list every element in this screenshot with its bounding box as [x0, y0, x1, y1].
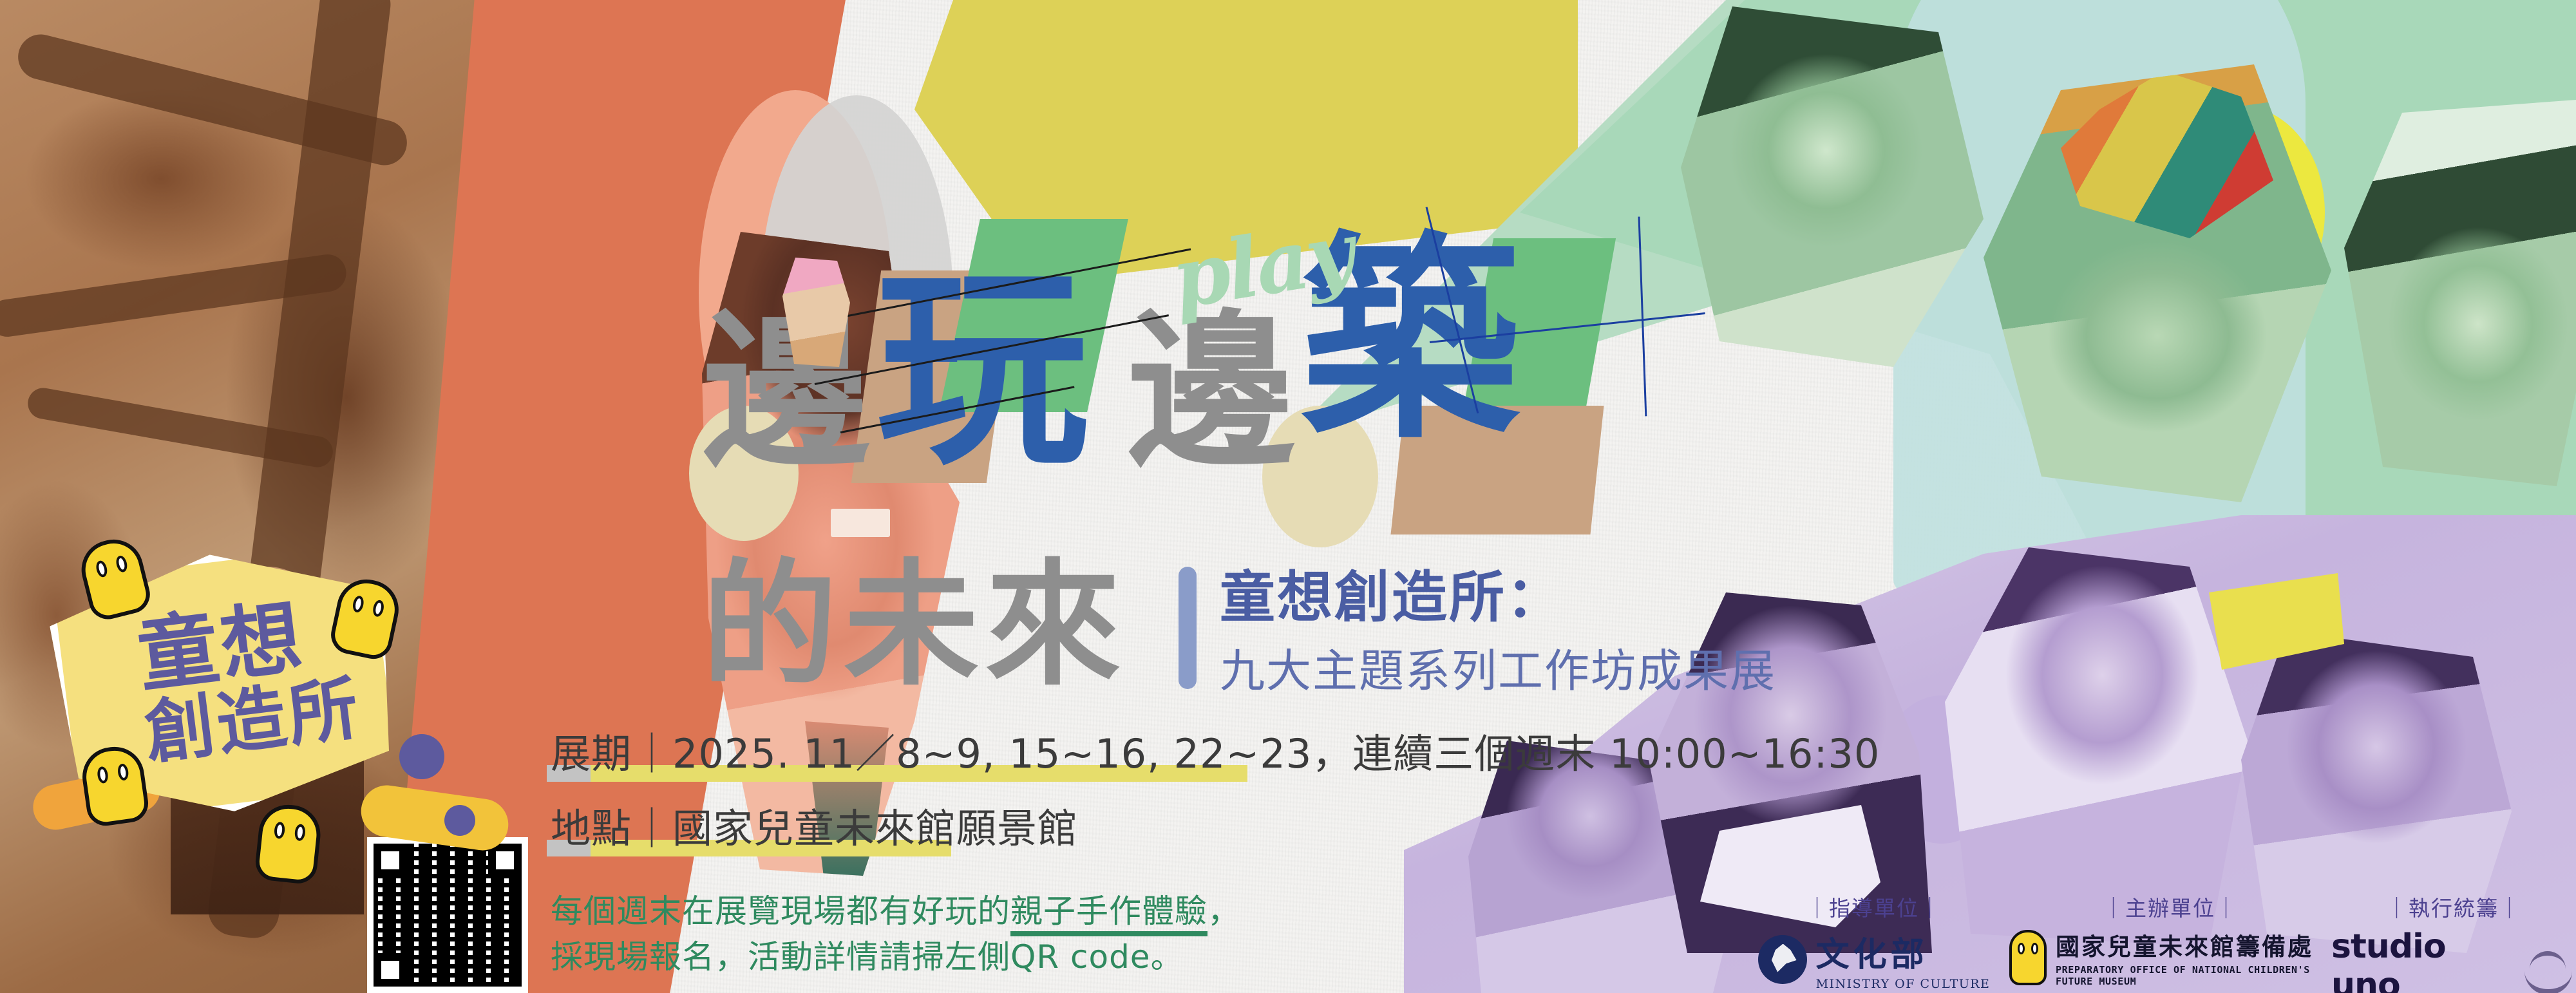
workshop-note: 每個週末在展覽現場都有好玩的親子手作體驗， 採現場報名，活動詳情請掃左側QR c…: [551, 889, 1240, 980]
ministry-of-culture-icon: [1758, 935, 1807, 984]
ministry-of-culture-en: MINISTRY OF CULTURE: [1816, 977, 1991, 991]
logo-studio-uno: studio uno 與諾文化設計: [2331, 927, 2576, 993]
subtitle-block: 童想創造所： 九大主題系列工作坊成果展: [1179, 567, 1776, 700]
museum-mascot-icon: [2009, 930, 2047, 985]
paint-splat-3: [399, 734, 444, 779]
museum-name-cn: 國家兒童未來館籌備處: [2056, 927, 2313, 962]
studio-uno-en: studio uno: [2331, 927, 2515, 993]
note-post: ，: [1207, 893, 1240, 930]
museum-name-en: PREPARATORY OFFICE OF NATIONAL CHILDREN'…: [2056, 964, 2331, 987]
paper-craft-hat: [2061, 71, 2273, 238]
paint-splat-4: [444, 805, 475, 836]
event-info-block: 展期｜2025. 11／8~9, 15~16, 22~23，連續三個週末 10:…: [551, 721, 1880, 871]
title-line-2: 的未來: [702, 515, 1127, 711]
title-char-2: 玩: [876, 264, 1088, 477]
info-venue-sep: ｜: [632, 805, 672, 852]
ministry-of-culture-cn: 文化部: [1816, 927, 1928, 976]
smile-icon: [2521, 960, 2576, 993]
workshop-note-line-2: 採現場報名，活動詳情請掃左側QR code。: [551, 934, 1240, 980]
sponsor-group-executor: ｜執行統籌｜ studio uno 與諾文化設計: [2331, 881, 2576, 993]
info-date-label: 展期: [551, 730, 632, 777]
subtitle-main: 童想創造所：: [1220, 567, 1776, 629]
qr-finder-top-right: [488, 844, 522, 877]
qr-finder-top-left: [374, 844, 407, 877]
info-date-sep: ｜: [632, 730, 672, 777]
info-venue-value: 國家兒童未來館願景館: [672, 805, 1078, 852]
logo-ministry-of-culture: 文化部 MINISTRY OF CULTURE: [1739, 927, 2009, 991]
qr-code[interactable]: [367, 837, 528, 993]
subtitle-second: 九大主題系列工作坊成果展: [1220, 635, 1776, 700]
subtitle-accent-bar: [1179, 567, 1197, 689]
title-char-3: 邊: [1127, 309, 1294, 477]
sponsor-label-advisor: ｜指導單位｜: [1739, 881, 2009, 922]
note-emphasis: 親子手作體驗: [1010, 893, 1207, 936]
qr-code-pattern: [374, 844, 522, 987]
info-venue-label: 地點: [551, 805, 632, 852]
qr-finder-bottom-left: [374, 953, 407, 987]
sponsor-group-organizer: ｜主辦單位｜ 國家兒童未來館籌備處 PREPARATORY OFFICE OF …: [2009, 881, 2331, 993]
workshop-note-line-1: 每個週末在展覽現場都有好玩的親子手作體驗，: [551, 889, 1240, 934]
logo-childrens-future-museum: 國家兒童未來館籌備處 PREPARATORY OFFICE OF NATIONA…: [2009, 927, 2331, 987]
title-diagonal-line-6: [1638, 216, 1647, 416]
info-row-venue: 地點｜國家兒童未來館願景館: [551, 796, 1880, 854]
info-row-date: 展期｜2025. 11／8~9, 15~16, 22~23，連續三個週末 10:…: [551, 721, 1880, 779]
sponsor-label-organizer: ｜主辦單位｜: [2009, 881, 2331, 922]
event-banner: 邊 玩 邊 築 play 的未來 童想創造所： 九大主題系列工作坊成果展 展期｜…: [0, 0, 2576, 993]
info-date-value: 2025. 11／8~9, 15~16, 22~23，連續三個週末 10:00~…: [672, 730, 1880, 777]
photo-child-with-pink-crown: [782, 258, 850, 367]
sponsor-bar: ｜指導單位｜ 文化部 MINISTRY OF CULTURE ｜主辦單位｜ 國家…: [1739, 881, 2576, 993]
note-pre: 每個週末在展覽現場都有好玩的: [551, 893, 1010, 930]
sponsor-label-executor: ｜執行統籌｜: [2331, 881, 2576, 922]
sponsor-group-advisor: ｜指導單位｜ 文化部 MINISTRY OF CULTURE: [1739, 881, 2009, 993]
title-line-1: 邊 玩 邊 築 play: [702, 193, 1732, 496]
main-title-block: 邊 玩 邊 築 play 的未來: [702, 193, 1732, 496]
